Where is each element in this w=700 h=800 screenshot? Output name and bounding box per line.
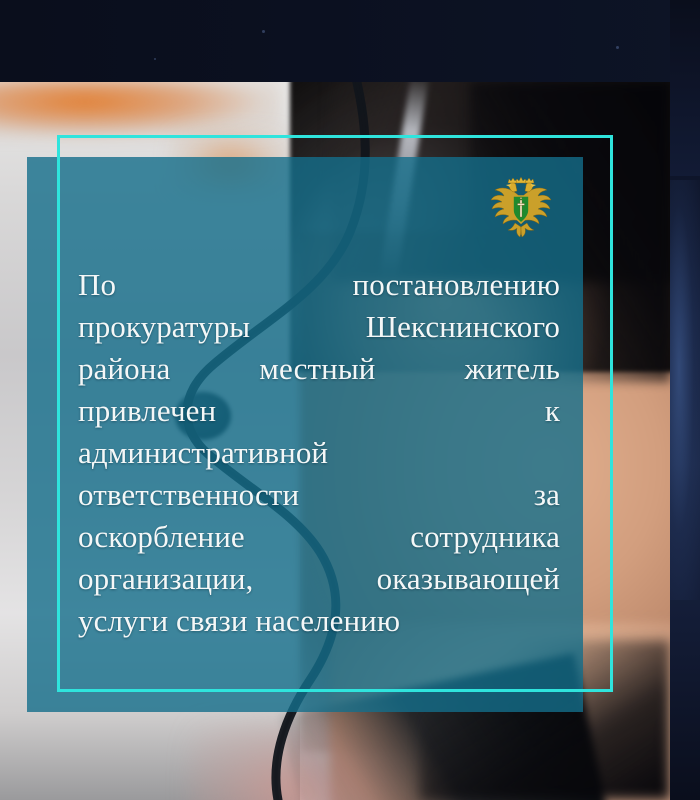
- right-dark-band: [670, 0, 700, 800]
- headline-line: услуги связи населению: [78, 600, 560, 642]
- headline-line: района местный житель: [78, 348, 560, 390]
- russian-prosecutor-general-emblem-icon: [489, 176, 553, 242]
- news-card: По постановлению прокуратуры Шекснинског…: [0, 0, 700, 800]
- headline-line: ответственности за: [78, 474, 560, 516]
- headline-text: По постановлению прокуратуры Шекснинског…: [78, 264, 560, 642]
- headline-line: привлечен к: [78, 390, 560, 432]
- headline-line: По постановлению: [78, 264, 560, 306]
- right-band-glow: [670, 180, 700, 600]
- top-dark-band: [0, 0, 700, 82]
- headline-line: оскорбление сотрудника: [78, 516, 560, 558]
- headline-line: административной: [78, 432, 560, 474]
- headline-line: организации, оказывающей: [78, 558, 560, 600]
- headline-line: прокуратуры Шекснинского: [78, 306, 560, 348]
